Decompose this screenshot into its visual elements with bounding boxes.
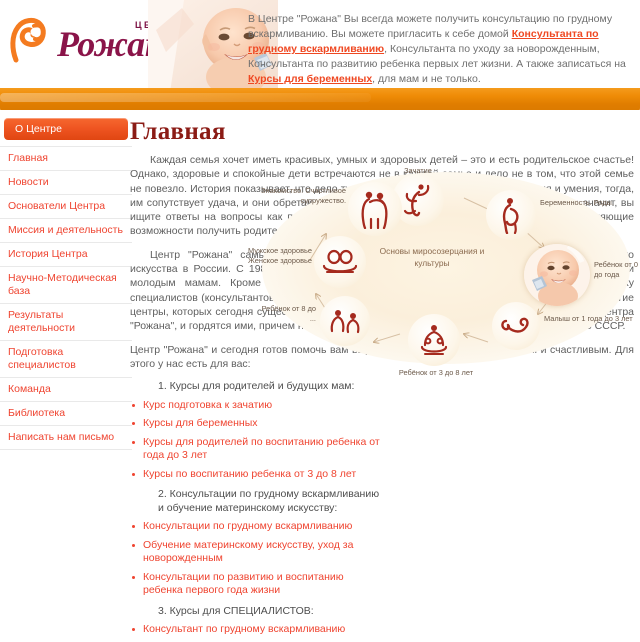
- sidebar-nav: О Центре Главная Новости Основатели Цент…: [0, 118, 132, 450]
- section2-heading: 2. Консультации по грудному вскармливани…: [130, 488, 382, 515]
- node-label-child-3-8: Ребёнок от 3 до 8 лет: [382, 368, 490, 378]
- course-link[interactable]: Курсы для беременных: [143, 417, 258, 429]
- sidebar-link[interactable]: Команда: [0, 378, 132, 401]
- course-link[interactable]: Курсы по воспитанию: [143, 468, 248, 480]
- specialist-link[interactable]: Консультант по грудному вскармливанию: [143, 623, 345, 635]
- section1-list: Курс подготовка к зачатию Курсы для бере…: [130, 399, 382, 482]
- node-health[interactable]: [314, 236, 366, 288]
- node-acquaintance[interactable]: [348, 182, 402, 236]
- node-toddler-1-3[interactable]: [492, 302, 540, 350]
- sidebar-item-biblioteka[interactable]: Библиотека: [0, 402, 132, 426]
- node-label-pregnancy: Беременность. Роды.: [540, 198, 632, 208]
- list-item[interactable]: Консультант по грудному вскармливанию: [130, 623, 382, 637]
- sidebar-item-nauchnaya-baza[interactable]: Научно-Методическая база: [0, 267, 132, 304]
- list-item[interactable]: Консультации по развитию и воспитанию ре…: [130, 571, 382, 598]
- sidebar-link[interactable]: Результаты деятельности: [0, 304, 132, 340]
- node-pregnancy[interactable]: [486, 190, 536, 240]
- page-root: ЦЕНТР Рожана: [0, 0, 640, 480]
- section3-heading: 3. Курсы для СПЕЦИАЛИСТОВ:: [130, 605, 382, 619]
- sidebar-item-missiya[interactable]: Миссия и деятельность: [0, 219, 132, 243]
- sidebar-link[interactable]: Написать нам письмо: [0, 426, 132, 449]
- two-children-icon: [328, 307, 362, 335]
- page-title: Главная: [130, 118, 634, 146]
- list-item[interactable]: Курс подготовка к зачатию: [130, 399, 382, 413]
- header-orange-bar: [0, 88, 640, 110]
- node-child-3-8[interactable]: [408, 314, 460, 366]
- sidebar-link[interactable]: Миссия и деятельность: [0, 219, 132, 242]
- sidebar-link[interactable]: Научно-Методическая база: [0, 267, 132, 303]
- consultation-link[interactable]: Консультации по грудному вскармливанию: [143, 520, 352, 532]
- node-child-8-plus[interactable]: [320, 296, 370, 346]
- baby-photo: [524, 244, 590, 306]
- sidebar-item-podgotovka[interactable]: Подготовка специалистов: [0, 341, 132, 378]
- node-label-health: Мужское здоровье Женское здоровье: [236, 246, 312, 265]
- sidebar-item-istoriya[interactable]: История Центра: [0, 243, 132, 267]
- list-item[interactable]: Курсы по воспитанию ребенка от 3 до 8 ле…: [130, 468, 382, 482]
- section2-list: Консультации по грудному вскармливанию О…: [130, 520, 382, 598]
- sidebar-item-rezultaty[interactable]: Результаты деятельности: [0, 304, 132, 341]
- node-label-conception: Зачатие: [382, 166, 454, 176]
- sidebar-item-novosti[interactable]: Новости: [0, 171, 132, 195]
- couple-health-icon: [321, 248, 359, 276]
- site-header: ЦЕНТР Рожана: [0, 0, 640, 110]
- intro-text-part3: , для мам и не только.: [372, 73, 481, 85]
- list-item[interactable]: Курсы для беременных: [130, 417, 382, 431]
- sidebar-link[interactable]: Библиотека: [0, 402, 132, 425]
- section1-heading: 1. Курсы для родителей и будущих мам:: [130, 380, 382, 394]
- sidebar-item-glavnaya[interactable]: Главная: [0, 146, 132, 171]
- sidebar-item-napisat-pismo[interactable]: Написать нам письмо: [0, 426, 132, 450]
- node-label-toddler-1-3: Малыш от 1 года до 3 лет: [544, 314, 636, 324]
- sidebar-item-komanda[interactable]: Команда: [0, 378, 132, 402]
- sidebar-link[interactable]: Подготовка специалистов: [0, 341, 132, 377]
- sidebar-link[interactable]: История Центра: [0, 243, 132, 266]
- pregnant-woman-icon: [498, 196, 524, 234]
- child-family-icon: [416, 323, 452, 357]
- node-label-child-8-plus: Ребёнок от 8 до ...: [258, 304, 316, 323]
- mother-child-icon: [8, 14, 52, 64]
- content-columns: 1. Курсы для родителей и будущих мам: Ку…: [130, 380, 634, 637]
- course-rest: ребенка от 3 до 8 лет: [248, 468, 356, 480]
- sidebar-link[interactable]: Основатели Центра: [0, 195, 132, 218]
- sidebar-menu: Главная Новости Основатели Центра Миссия…: [0, 146, 132, 450]
- list-item[interactable]: Консультации по грудному вскармливанию: [130, 520, 382, 534]
- list-item[interactable]: Обучение материнскому искусству, уход за…: [130, 539, 382, 566]
- consultation-link[interactable]: Консультации по развитию и воспитанию ре…: [143, 571, 344, 597]
- sidebar-heading-about[interactable]: О Центре: [4, 118, 128, 140]
- pregnancy-courses-link[interactable]: Курсы для беременных: [248, 73, 372, 85]
- sidebar-link[interactable]: Новости: [0, 171, 132, 194]
- course-link[interactable]: Курсы для родителей: [143, 436, 248, 448]
- couple-embrace-icon: [357, 189, 393, 229]
- consultation-link[interactable]: Обучение материнскому искусству, уход за…: [143, 539, 353, 565]
- sidebar-item-osnovateli[interactable]: Основатели Центра: [0, 195, 132, 219]
- dancing-figure-icon: [401, 181, 435, 219]
- sidebar-link[interactable]: Главная: [0, 147, 132, 170]
- node-label-acquaintance: Знакомство. Счастливое супружество.: [238, 186, 346, 205]
- toddler-icon: [500, 313, 532, 339]
- diagram-center-text: Основы миросозерцания и культуры: [372, 246, 492, 269]
- node-label-baby-0-1: Ребёнок от 0 до года: [594, 260, 640, 279]
- node-baby-0-1[interactable]: [524, 244, 590, 306]
- header-intro-text: В Центре "Рожана" Вы всегда можете получ…: [248, 12, 630, 87]
- section3-list: Консультант по грудному вскармливанию: [130, 623, 382, 637]
- services-lists: 1. Курсы для родителей и будущих мам: Ку…: [130, 380, 382, 637]
- lifecycle-diagram: Зачатие Беременность. Роды.: [252, 168, 640, 368]
- course-link[interactable]: Курс подготовка к зачатию: [143, 399, 272, 411]
- list-item[interactable]: Курсы для родителей по воспитанию ребенк…: [130, 436, 382, 463]
